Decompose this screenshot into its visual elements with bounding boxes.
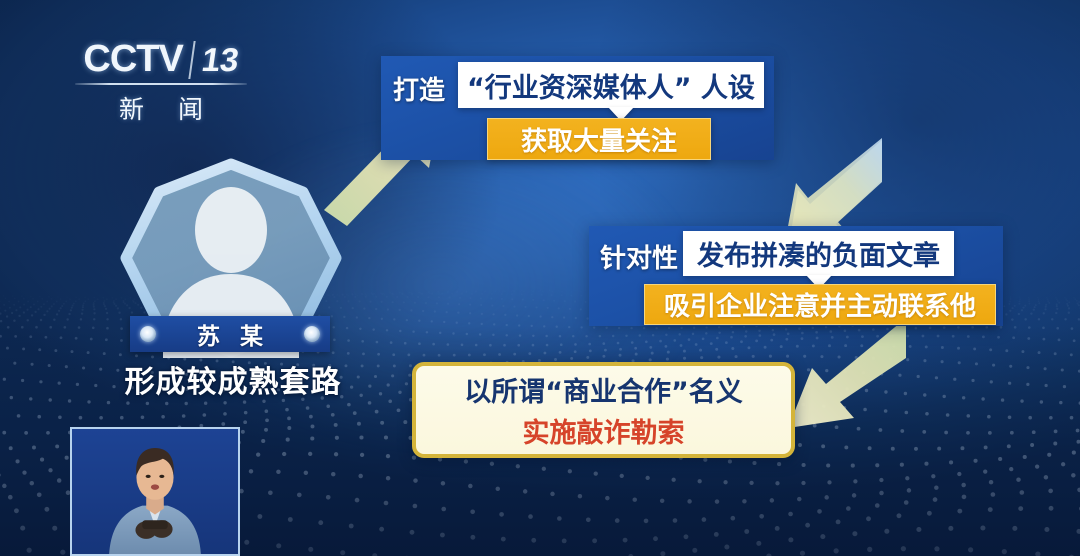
conclusion-box: 以所谓“商业合作”名义 实施敲诈勒索 bbox=[412, 362, 795, 458]
subject-avatar-block: 苏 某 bbox=[112, 158, 350, 368]
conclusion-line-2: 实施敲诈勒索 bbox=[523, 411, 685, 450]
decor-dot-right-icon bbox=[304, 326, 320, 342]
presenter-video bbox=[72, 429, 238, 554]
subject-name: 苏 某 bbox=[191, 317, 269, 351]
step-2-result-text: 吸引企业注意并主动联系他 bbox=[664, 286, 976, 323]
step-1-result-box: 获取大量关注 bbox=[487, 118, 711, 160]
step-1-result-text: 获取大量关注 bbox=[521, 121, 677, 158]
subject-name-bar: 苏 某 bbox=[130, 316, 330, 352]
subject-headline: 形成较成熟套路 bbox=[98, 357, 368, 401]
step-1-main-box: “行业资深媒体人” 人设 bbox=[458, 62, 764, 108]
decor-dot-left-icon bbox=[140, 326, 156, 342]
step-2-main-box: 发布拼凑的负面文章 bbox=[683, 231, 954, 276]
step-2-main-text: 发布拼凑的负面文章 bbox=[697, 234, 940, 273]
step-2-result-box: 吸引企业注意并主动联系他 bbox=[644, 284, 996, 325]
broadcast-screen: CCTV 13 新 闻 bbox=[0, 0, 1080, 556]
conclusion-line-1: 以所谓“商业合作”名义 bbox=[464, 370, 743, 409]
step-2-prefix: 针对性 bbox=[600, 238, 678, 275]
sign-language-presenter-window bbox=[70, 427, 240, 556]
step-1-main-text: “行业资深媒体人” 人设 bbox=[467, 66, 755, 105]
step-1-prefix: 打造 bbox=[393, 70, 445, 107]
